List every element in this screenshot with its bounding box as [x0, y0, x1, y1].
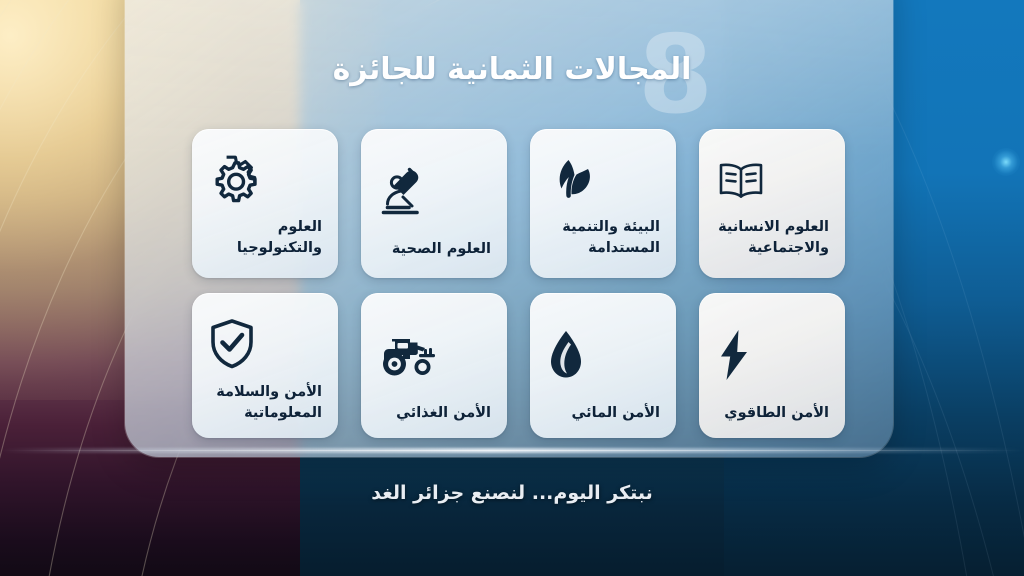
header: 8 المجالات الثمانية للجائزة [0, 0, 1024, 120]
card-food-security[interactable]: الأمن الغذائي [361, 293, 507, 438]
open-book-icon [713, 143, 831, 217]
card-label: الأمن الطاقوي [713, 403, 831, 424]
card-information-security-safety[interactable]: الأمن والسلامة المعلوماتية [192, 293, 338, 438]
award-fields-grid: العلوم الانسانية والاجتماعية البيئة والت… [191, 129, 845, 438]
microscope-icon [375, 143, 493, 239]
horizontal-light-streak-core [0, 450, 1024, 451]
card-label: الأمن والسلامة المعلوماتية [206, 382, 324, 424]
card-water-security[interactable]: الأمن المائي [530, 293, 676, 438]
tagline: نبتكر اليوم... لنصنع جزائر الغد [0, 482, 1024, 504]
tractor-icon [375, 307, 493, 403]
page-title: المجالات الثمانية للجائزة [0, 52, 1024, 87]
card-label: البيئة والتنمية المستدامة [544, 217, 662, 259]
water-drop-icon [544, 307, 662, 403]
slide-canvas: 8 المجالات الثمانية للجائزة العلوم الانس… [0, 0, 1024, 576]
cyan-dot-accent [992, 148, 1020, 176]
card-energy-security[interactable]: الأمن الطاقوي [699, 293, 845, 438]
card-humanities-social-sciences[interactable]: العلوم الانسانية والاجتماعية [699, 129, 845, 278]
card-health-sciences[interactable]: العلوم الصحية [361, 129, 507, 278]
card-label: العلوم الانسانية والاجتماعية [713, 217, 831, 259]
card-label: العلوم والتكنولوجيا [206, 217, 324, 259]
card-environment-sustainable-development[interactable]: البيئة والتنمية المستدامة [530, 129, 676, 278]
leaf-icon [544, 143, 662, 217]
card-label: العلوم الصحية [375, 239, 493, 260]
card-label: الأمن الغذائي [375, 403, 493, 424]
lightning-bolt-icon [713, 307, 831, 403]
card-science-technology[interactable]: العلوم والتكنولوجيا [192, 129, 338, 278]
gear-icon [206, 143, 324, 217]
card-label: الأمن المائي [544, 403, 662, 424]
shield-check-icon [206, 307, 324, 381]
